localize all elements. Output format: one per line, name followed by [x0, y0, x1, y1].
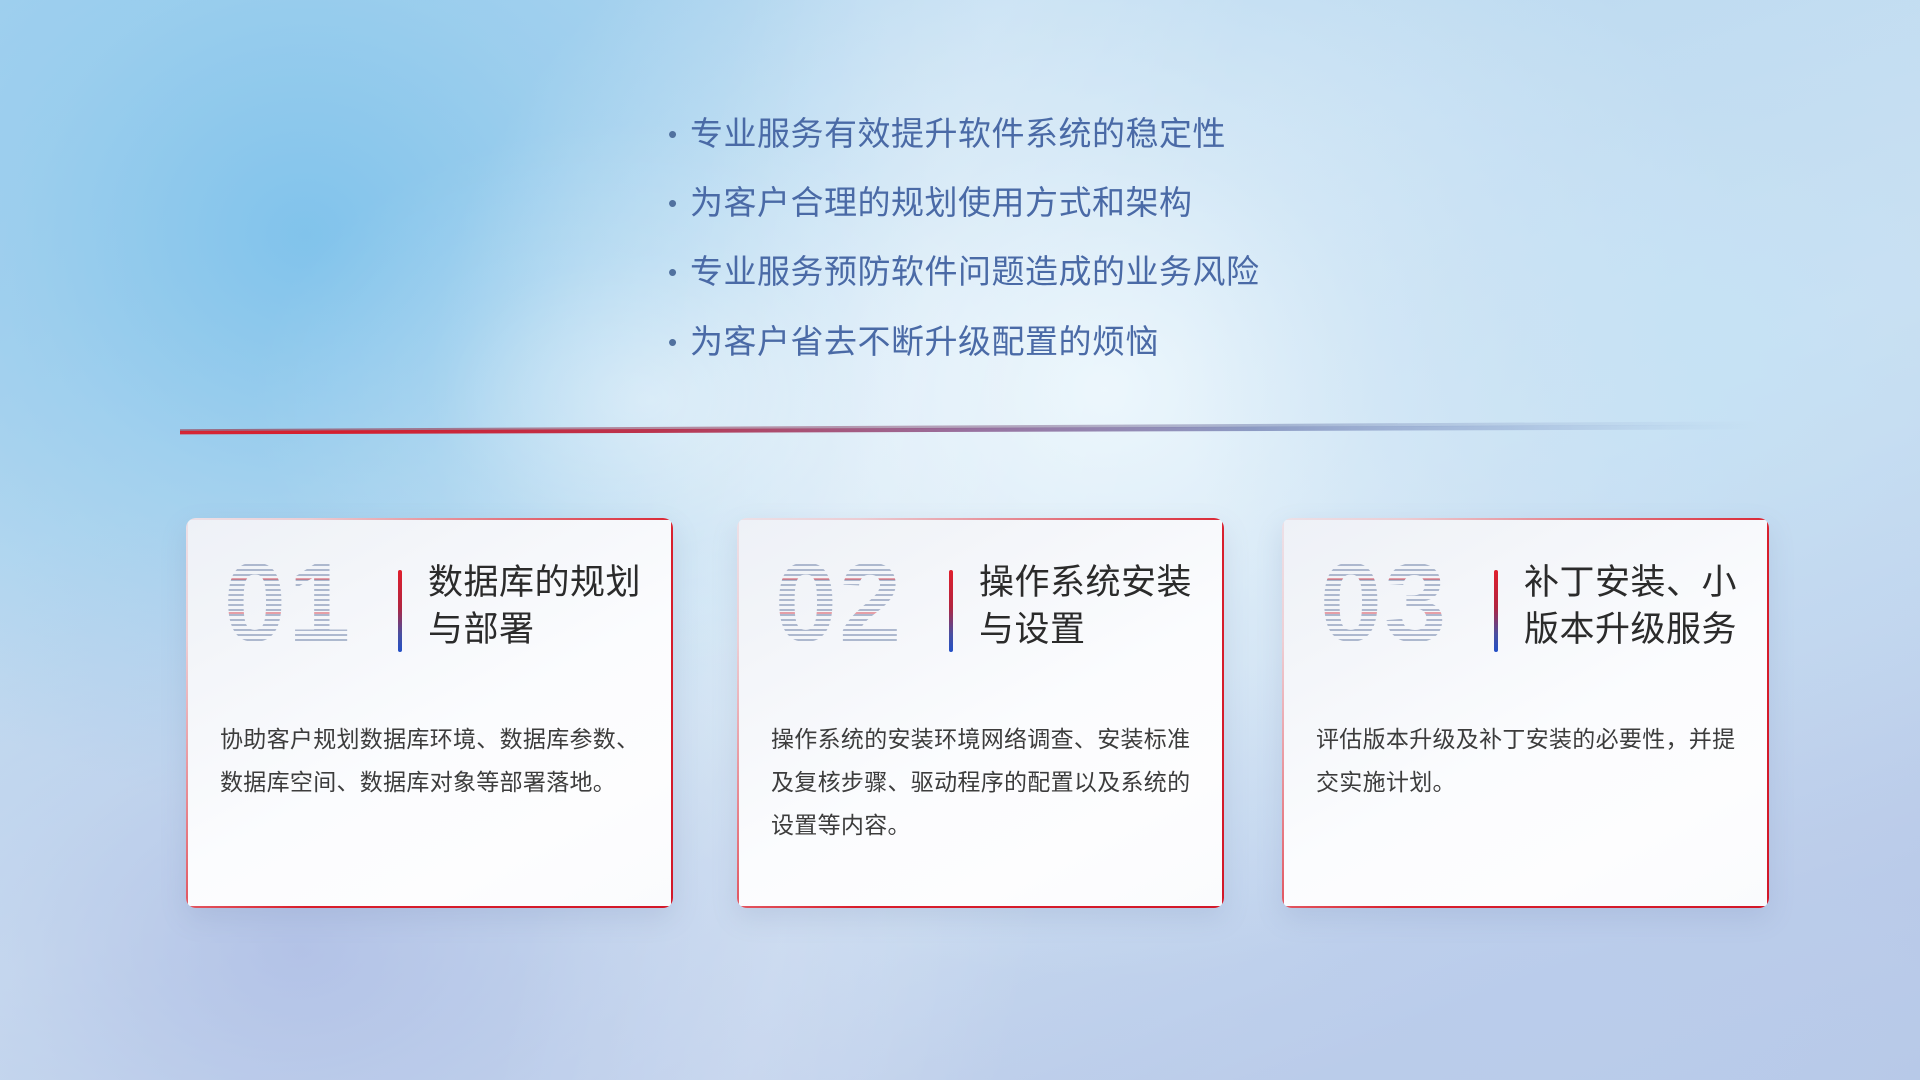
- benefits-bullet-list: • 专业服务有效提升软件系统的稳定性 • 为客户合理的规划使用方式和架构 • 专…: [668, 113, 1568, 390]
- card-number-watermark-tint: 02: [759, 544, 919, 662]
- card-title: 操作系统安装与设置: [979, 560, 1204, 653]
- card-accent-bar: [1494, 570, 1498, 652]
- card-accent-bar: [949, 570, 953, 652]
- card-title: 补丁安装、小版本升级服务: [1524, 560, 1749, 653]
- card-description: 评估版本升级及补丁安装的必要性，并提交实施计划。: [1316, 718, 1736, 804]
- card-header: 02 02 操作系统安装与设置: [737, 518, 1224, 698]
- list-item: • 专业服务有效提升软件系统的稳定性: [668, 113, 1568, 155]
- card-accent-bar: [398, 570, 402, 652]
- bullet-marker-icon: •: [668, 121, 690, 147]
- card-number-watermark-tint: 01: [208, 544, 368, 662]
- list-item-label: 专业服务预防软件问题造成的业务风险: [690, 251, 1260, 293]
- list-item-label: 为客户合理的规划使用方式和架构: [690, 182, 1193, 224]
- list-item-label: 专业服务有效提升软件系统的稳定性: [690, 113, 1226, 155]
- service-card-group: 01 01 数据库的规划与部署 协助客户规划数据库环境、数据库参数、数据库空间、…: [0, 518, 1920, 918]
- card-number-watermark-tint: 03: [1304, 544, 1464, 662]
- service-card-03[interactable]: 03 03 补丁安装、小版本升级服务 评估版本升级及补丁安装的必要性，并提交实施…: [1282, 518, 1769, 908]
- service-card-01[interactable]: 01 01 数据库的规划与部署 协助客户规划数据库环境、数据库参数、数据库空间、…: [186, 518, 673, 908]
- bullet-marker-icon: •: [668, 190, 690, 216]
- list-item: • 专业服务预防软件问题造成的业务风险: [668, 251, 1568, 293]
- card-description: 操作系统的安装环境网络调查、安装标准及复核步骤、驱动程序的配置以及系统的设置等内…: [771, 718, 1191, 847]
- list-item-label: 为客户省去不断升级配置的烦恼: [690, 321, 1159, 363]
- service-card-02[interactable]: 02 02 操作系统安装与设置 操作系统的安装环境网络调查、安装标准及复核步骤、…: [737, 518, 1224, 908]
- card-header: 03 03 补丁安装、小版本升级服务: [1282, 518, 1769, 698]
- card-surface: 01 01 数据库的规划与部署 协助客户规划数据库环境、数据库参数、数据库空间、…: [186, 518, 673, 908]
- card-header: 01 01 数据库的规划与部署: [186, 518, 673, 698]
- card-surface: 02 02 操作系统安装与设置 操作系统的安装环境网络调查、安装标准及复核步骤、…: [737, 518, 1224, 908]
- list-item: • 为客户合理的规划使用方式和架构: [668, 182, 1568, 224]
- card-surface: 03 03 补丁安装、小版本升级服务 评估版本升级及补丁安装的必要性，并提交实施…: [1282, 518, 1769, 908]
- bullet-marker-icon: •: [668, 259, 690, 285]
- card-description: 协助客户规划数据库环境、数据库参数、数据库空间、数据库对象等部署落地。: [220, 718, 640, 804]
- divider-graphic: [180, 420, 1760, 436]
- card-title: 数据库的规划与部署: [428, 560, 653, 653]
- list-item: • 为客户省去不断升级配置的烦恼: [668, 321, 1568, 363]
- bullet-marker-icon: •: [668, 329, 690, 355]
- section-divider: [180, 420, 1760, 436]
